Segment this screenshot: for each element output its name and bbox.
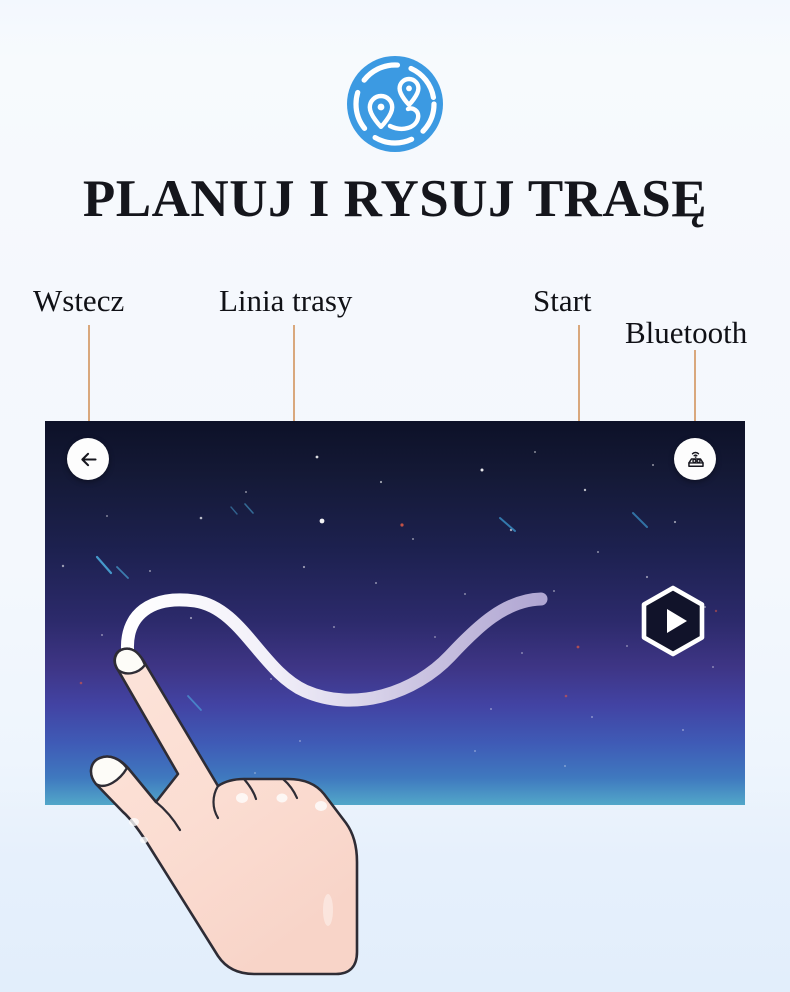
page-title: PLANUJ I RYSUJ TRASĘ	[0, 172, 790, 228]
callout-label-bluetooth: Bluetooth	[625, 317, 747, 348]
pointing-hand-illustration	[78, 622, 388, 992]
callout-label-start: Start	[533, 285, 592, 316]
app-logo	[345, 54, 445, 154]
route-map-pins-icon	[345, 54, 445, 154]
callout-label-wstecz: Wstecz	[33, 285, 124, 316]
start-button[interactable]: Start	[637, 585, 709, 657]
bluetooth-button[interactable]: Bluetooth	[674, 438, 716, 480]
robot-car-signal-icon	[683, 447, 708, 472]
back-button[interactable]: Wstecz	[67, 438, 109, 480]
callout-label-linia-trasy: Linia trasy	[219, 285, 352, 316]
logo-container	[0, 54, 790, 154]
arrow-left-icon	[78, 449, 99, 470]
play-triangle-icon	[637, 585, 709, 657]
